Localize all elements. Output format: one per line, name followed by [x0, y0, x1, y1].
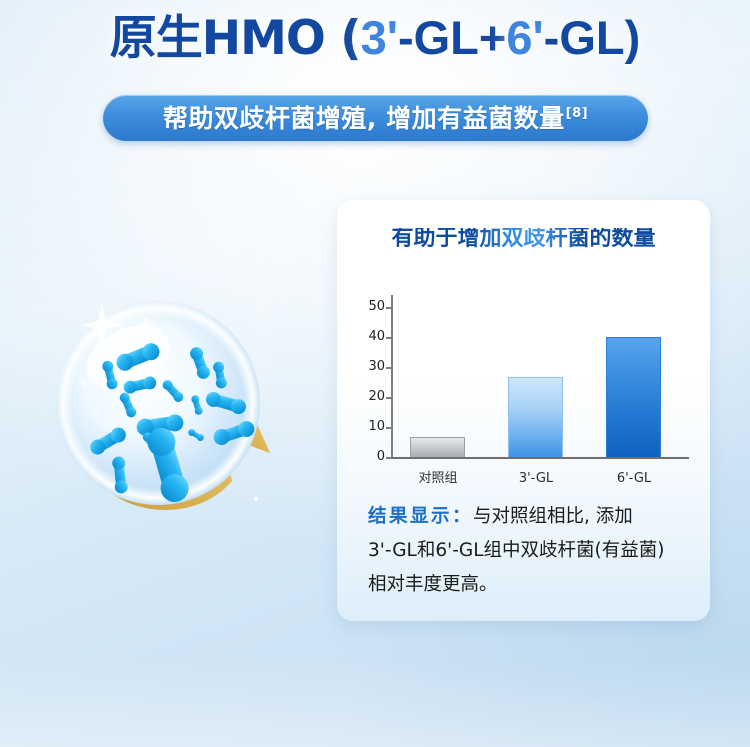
promo-page: 原生HMO (3'-GL+6'-GL) 帮助双歧杆菌增殖, 增加有益菌数量[8]: [0, 0, 750, 747]
y-axis-label-50: 50: [345, 300, 385, 313]
background-bottom-sheen: [0, 657, 750, 747]
bar-chart: 50 40 30 20 10 0 对照组 3'-GL 6'-GL: [345, 295, 702, 495]
x-axis-label-3gl: 3'-GL: [501, 472, 571, 485]
y-tick-40: [386, 337, 392, 339]
y-axis-label-40: 40: [345, 330, 385, 343]
y-axis-label-20: 20: [345, 390, 385, 403]
subtitle-badge-text: 帮助双歧杆菌增殖, 增加有益菌数量: [163, 104, 565, 133]
caption-line-1: 结果显示：与对照组相比, 添加: [368, 500, 686, 534]
title-part-4: 6': [506, 11, 543, 64]
y-tick-30: [386, 367, 392, 369]
y-axis-label-30: 30: [345, 360, 385, 373]
y-axis-label-10: 10: [345, 420, 385, 433]
title-part-2: 3': [361, 11, 398, 64]
bar-3gl: [508, 377, 563, 457]
bar-control: [410, 437, 465, 457]
y-tick-50: [386, 307, 392, 309]
x-axis-label-control: 对照组: [403, 472, 473, 485]
caption-line-3: 相对丰度更高。: [368, 568, 686, 602]
y-axis-line: [391, 295, 393, 459]
subtitle-badge-label: 帮助双歧杆菌增殖, 增加有益菌数量[8]: [163, 106, 588, 131]
x-axis-label-6gl: 6'-GL: [599, 472, 669, 485]
title-part-3: -GL+: [398, 11, 506, 64]
title-part-1: 原生HMO (: [110, 11, 361, 66]
y-tick-20: [386, 397, 392, 399]
bifidobacteria-sphere-illustration: [40, 285, 290, 535]
y-tick-10: [386, 427, 392, 429]
chart-card: 有助于增加双歧杆菌的数量 50 40 30 20 10 0 对照组 3'-GL …: [337, 200, 710, 621]
sphere-arrow-icon: [40, 285, 290, 535]
chart-caption: 结果显示：与对照组相比, 添加 3'-GL和6'-GL组中双歧杆菌(有益菌) 相…: [368, 500, 686, 602]
caption-line-2: 3'-GL和6'-GL组中双歧杆菌(有益菌): [368, 534, 686, 568]
subtitle-badge-superscript: [8]: [566, 106, 588, 121]
y-axis-label-0: 0: [345, 450, 385, 463]
page-title: 原生HMO (3'-GL+6'-GL): [0, 14, 750, 62]
subtitle-badge: 帮助双歧杆菌增殖, 增加有益菌数量[8]: [103, 95, 648, 141]
title-part-5: -GL): [544, 11, 641, 64]
x-axis-line: [391, 457, 689, 459]
caption-line-1-rest: 与对照组相比, 添加: [473, 506, 633, 527]
chart-title: 有助于增加双歧杆菌的数量: [337, 228, 710, 250]
y-tick-0: [386, 457, 392, 459]
bar-6gl: [606, 337, 661, 457]
caption-highlight: 结果显示：: [368, 506, 473, 527]
